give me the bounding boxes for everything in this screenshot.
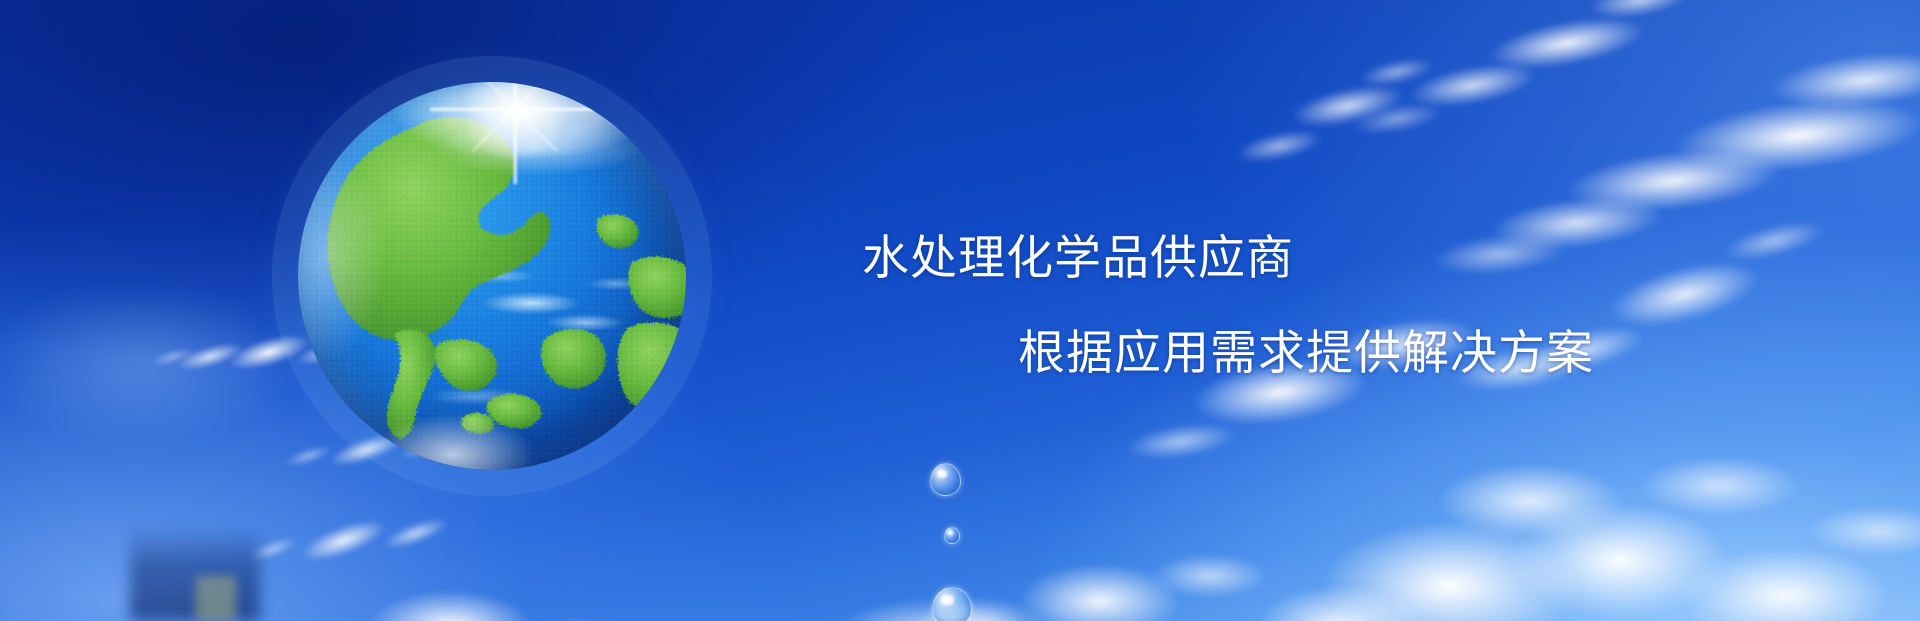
building-accent-bottom-left (196, 576, 236, 621)
banner-subheadline: 根据应用需求提供解决方案 (1018, 328, 1594, 377)
banner-headline: 水处理化学品供应商 (862, 233, 1294, 282)
water-droplet-small (944, 527, 960, 544)
hero-banner: 水处理化学品供应商 根据应用需求提供解决方案 (0, 0, 1920, 621)
building-silhouette-bottom-left (130, 526, 260, 621)
globe-sphere (298, 82, 686, 470)
globe-grass-texture (298, 82, 686, 470)
water-droplet-large (930, 463, 961, 496)
glass-earth-globe (298, 82, 686, 470)
